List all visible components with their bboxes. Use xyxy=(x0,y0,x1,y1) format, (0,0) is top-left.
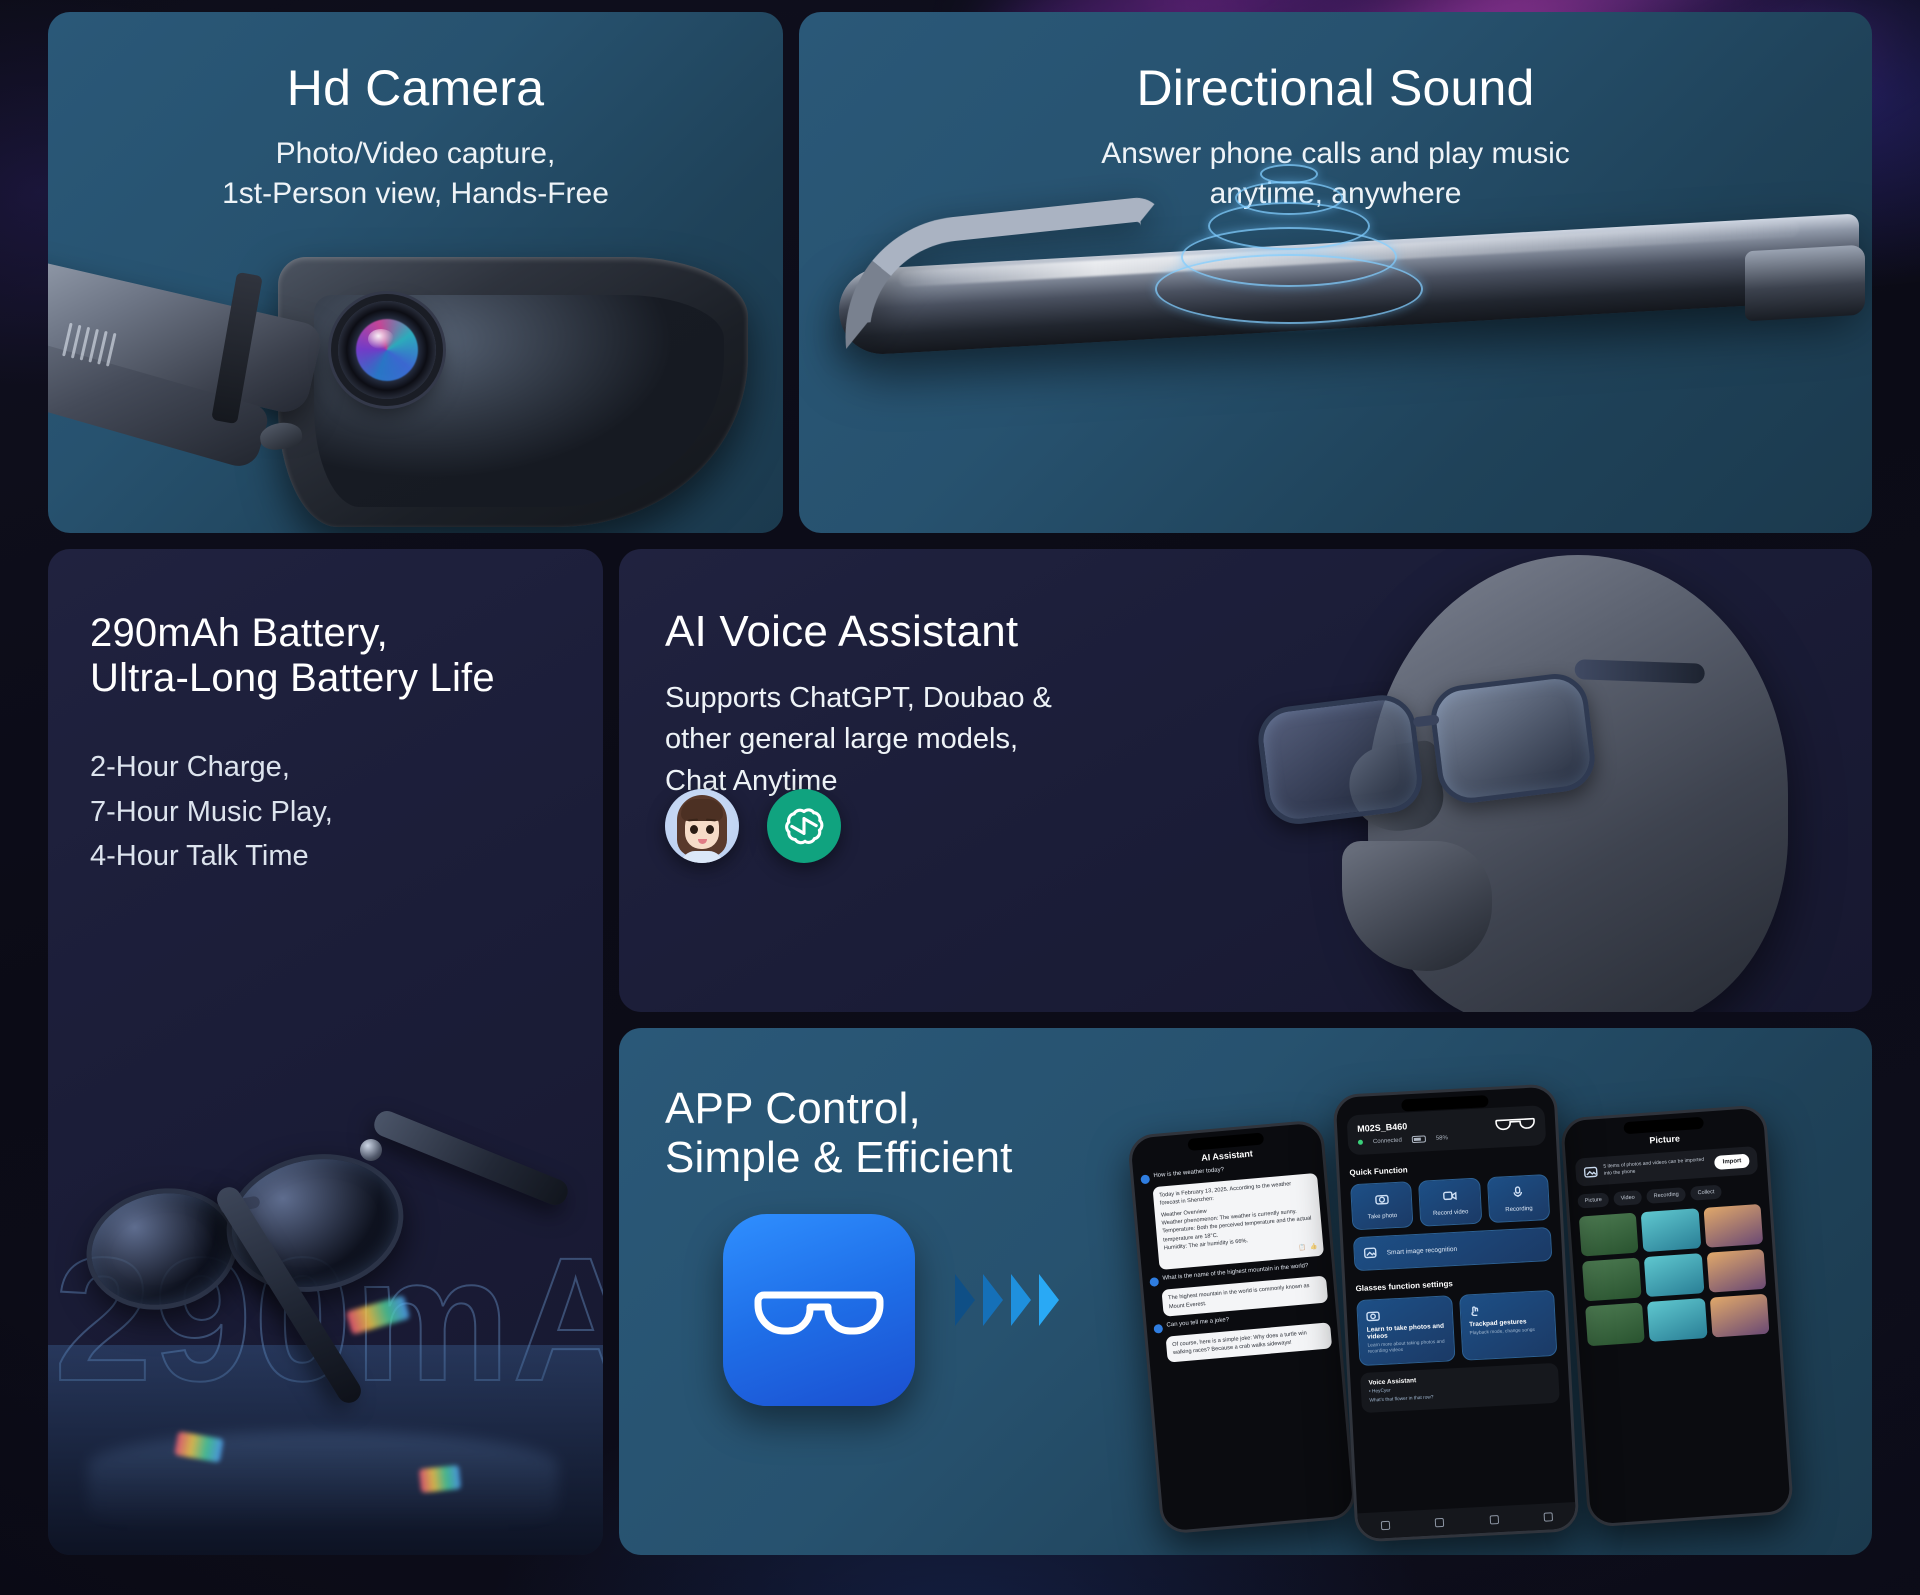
camera-icon xyxy=(1366,1309,1381,1322)
ai-assistant-subtitle-line1: Supports ChatGPT, Doubao & xyxy=(665,678,1185,719)
smart-recognition-label: Smart image recognition xyxy=(1387,1245,1458,1256)
voice-assistant-card[interactable]: Voice Assistant • HeyCyer What's that fl… xyxy=(1360,1363,1560,1413)
import-button[interactable]: Import xyxy=(1714,1154,1750,1170)
setting-card-learn-photos[interactable]: Learn to take photos and videos Learn mo… xyxy=(1356,1295,1455,1366)
glasses-render xyxy=(68,1137,588,1427)
feature-card-app-control[interactable]: APP Control, Simple & Efficient xyxy=(619,1028,1872,1555)
sound-wave-icon xyxy=(1139,164,1439,314)
device-tab-icon[interactable] xyxy=(1435,1517,1444,1526)
copy-icon[interactable]: 📋 xyxy=(1298,1244,1306,1253)
chat-question: Can you tell me a joke? xyxy=(1166,1317,1229,1330)
device-status-card[interactable]: M02S_B460 Connected 58% xyxy=(1347,1105,1547,1155)
camera-lens-icon xyxy=(338,301,436,399)
gallery-filter-tabs[interactable]: Picture Video Recording Collect xyxy=(1577,1182,1760,1209)
feature-card-directional-sound[interactable]: Directional Sound Answer phone calls and… xyxy=(799,12,1872,533)
chevron-right-icon xyxy=(955,1274,1059,1326)
connection-status: Connected xyxy=(1373,1137,1402,1145)
battery-title-line1: 290mAh Battery, xyxy=(90,611,573,656)
home-tab-icon[interactable] xyxy=(1381,1520,1390,1529)
phone-mockup-picture[interactable]: Picture 5 items of photos and videos can… xyxy=(1560,1104,1794,1527)
gallery-thumb[interactable] xyxy=(1644,1253,1704,1297)
gallery-thumb[interactable] xyxy=(1647,1298,1707,1342)
tile-label: Take photo xyxy=(1358,1212,1408,1221)
battery-text-block: 290mAh Battery, Ultra-Long Battery Life … xyxy=(90,611,573,879)
gallery-grid[interactable] xyxy=(1579,1204,1770,1346)
import-text: 5 items of photos and videos can be impo… xyxy=(1603,1156,1709,1177)
glasses-app-icon[interactable] xyxy=(723,1214,915,1406)
import-banner: 5 items of photos and videos can be impo… xyxy=(1575,1146,1759,1187)
battery-spec-item: 2-Hour Charge, xyxy=(90,745,573,790)
microphone-icon xyxy=(1511,1185,1526,1198)
doubao-avatar-icon[interactable] xyxy=(665,789,739,863)
ai-assistant-subtitle-line2: other general large models, xyxy=(665,719,1185,760)
gallery-thumb[interactable] xyxy=(1641,1208,1701,1252)
ai-assistant-title: AI Voice Assistant xyxy=(665,607,1185,656)
chat-answer-line: Of course, here is a simple joke: Why do… xyxy=(1172,1327,1326,1356)
user-avatar xyxy=(1153,1324,1163,1334)
tab-recording[interactable]: Recording xyxy=(1646,1187,1686,1204)
tab-picture[interactable]: Picture xyxy=(1577,1192,1609,1208)
app-control-title-line1: APP Control, xyxy=(665,1084,1165,1133)
directional-sound-title: Directional Sound xyxy=(799,60,1872,116)
glasses-settings-heading: Glasses function settings xyxy=(1355,1274,1553,1293)
battery-spec-item: 4-Hour Talk Time xyxy=(90,834,573,879)
gallery-thumb[interactable] xyxy=(1703,1204,1763,1248)
photo-icon xyxy=(1583,1165,1598,1178)
phone-mockup-control[interactable]: M02S_B460 Connected 58% xyxy=(1332,1083,1579,1542)
setting-title: Learn to take photos and videos xyxy=(1367,1323,1445,1341)
recording-button[interactable]: Recording xyxy=(1487,1174,1551,1223)
battery-spec-list: 2-Hour Charge, 7-Hour Music Play, 4-Hour… xyxy=(90,745,573,880)
status-dot-icon xyxy=(1358,1140,1363,1145)
take-photo-button[interactable]: Take photo xyxy=(1350,1181,1414,1230)
app-control-title: APP Control, Simple & Efficient xyxy=(665,1084,1165,1183)
ai-assistant-text-block: AI Voice Assistant Supports ChatGPT, Dou… xyxy=(665,607,1185,802)
chat-answer-line: The highest mountain in the world is com… xyxy=(1168,1281,1322,1310)
battery-spec-item: 7-Hour Music Play, xyxy=(90,790,573,835)
gallery-thumb[interactable] xyxy=(1579,1213,1639,1257)
setting-desc: Learn more about taking photos and recor… xyxy=(1367,1340,1445,1357)
record-video-button[interactable]: Record video xyxy=(1418,1178,1482,1227)
image-recognition-icon xyxy=(1363,1246,1380,1261)
profile-tab-icon[interactable] xyxy=(1544,1512,1553,1521)
chat-answer-bubble: Today is February 13, 2025. According to… xyxy=(1152,1173,1324,1271)
hd-camera-subtitle: Photo/Video capture, 1st-Person view, Ha… xyxy=(48,134,783,214)
video-icon xyxy=(1443,1189,1458,1202)
ai-assistant-model-image xyxy=(1142,549,1872,1012)
battery-product-image: 290mAh xyxy=(48,1085,603,1555)
gallery-thumb[interactable] xyxy=(1706,1249,1766,1293)
gesture-icon xyxy=(1468,1304,1483,1317)
hd-camera-subtitle-line2: 1st-Person view, Hands-Free xyxy=(48,174,783,214)
user-avatar xyxy=(1149,1278,1159,1288)
hd-camera-text-block: Hd Camera Photo/Video capture, 1st-Perso… xyxy=(48,60,783,214)
hd-camera-subtitle-line1: Photo/Video capture, xyxy=(48,134,783,174)
tile-label: Record video xyxy=(1426,1209,1476,1218)
tile-label: Recording xyxy=(1494,1205,1544,1214)
ai-assistant-subtitle: Supports ChatGPT, Doubao & other general… xyxy=(665,678,1185,802)
hd-camera-title: Hd Camera xyxy=(48,60,783,116)
battery-icon xyxy=(1412,1135,1426,1143)
camera-icon xyxy=(1374,1192,1389,1205)
setting-card-trackpad[interactable]: Trackpad gestures Playback mode, change … xyxy=(1459,1290,1558,1361)
quick-function-heading: Quick Function xyxy=(1349,1158,1547,1177)
setting-desc: Playback mode, change songs xyxy=(1469,1327,1547,1338)
tab-collect[interactable]: Collect xyxy=(1690,1185,1722,1201)
app-control-text-block: APP Control, Simple & Efficient xyxy=(665,1084,1165,1183)
thumbs-up-icon[interactable]: 👍 xyxy=(1310,1243,1318,1252)
chatgpt-logo-icon[interactable] xyxy=(767,789,841,863)
battery-title: 290mAh Battery, Ultra-Long Battery Life xyxy=(90,611,573,701)
glasses-icon xyxy=(1495,1114,1536,1137)
smart-image-recognition-button[interactable]: Smart image recognition xyxy=(1353,1227,1553,1271)
battery-title-line2: Ultra-Long Battery Life xyxy=(90,656,573,701)
feature-card-grid: Hd Camera Photo/Video capture, 1st-Perso… xyxy=(0,0,1920,1595)
ai-provider-icons xyxy=(665,789,841,863)
gallery-thumb[interactable] xyxy=(1585,1302,1645,1346)
tab-video[interactable]: Video xyxy=(1613,1190,1642,1206)
gallery-thumb[interactable] xyxy=(1709,1294,1769,1338)
gallery-tab-icon[interactable] xyxy=(1489,1515,1498,1524)
phone2-tabbar[interactable] xyxy=(1357,1502,1576,1539)
gallery-thumb[interactable] xyxy=(1582,1257,1642,1301)
feature-card-ai-voice-assistant[interactable]: AI Voice Assistant Supports ChatGPT, Dou… xyxy=(619,549,1872,1012)
app-phone-mockups: AI Assistant How is the weather today? T… xyxy=(1144,1065,1844,1555)
feature-card-hd-camera[interactable]: Hd Camera Photo/Video capture, 1st-Perso… xyxy=(48,12,783,533)
setting-title: Trackpad gestures xyxy=(1469,1317,1547,1328)
app-control-title-line2: Simple & Efficient xyxy=(665,1133,1165,1182)
feature-card-battery[interactable]: 290mAh Battery, Ultra-Long Battery Life … xyxy=(48,549,603,1555)
battery-level: 58% xyxy=(1436,1135,1448,1142)
